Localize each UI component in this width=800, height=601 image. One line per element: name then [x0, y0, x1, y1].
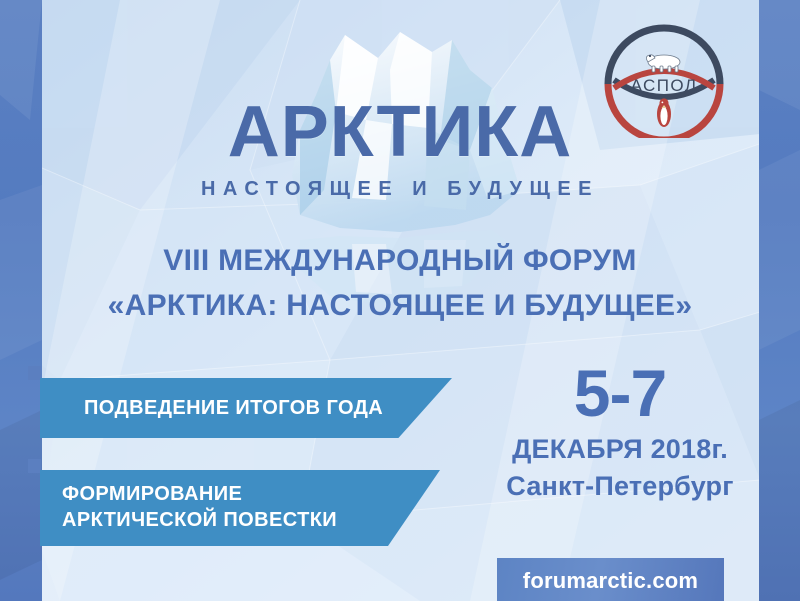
poster-canvas: АСПОЛ АРКТИКА НАСТОЯЩЕЕ И БУДУЩЕЕ VIII М…	[0, 0, 800, 601]
event-date-block: 5-7 ДЕКАБРЯ 2018г. Санкт-Петербург	[470, 360, 770, 502]
event-month-year: ДЕКАБРЯ 2018г.	[470, 434, 770, 465]
forum-heading-line-2: «АРКТИКА: НАСТОЯЩЕЕ И БУДУЩЕЕ»	[0, 288, 800, 323]
event-date-range: 5-7	[470, 360, 770, 426]
event-city: Санкт-Петербург	[470, 471, 770, 502]
ribbon-tab-one	[28, 366, 41, 380]
ribbon-two-line-2: АРКТИЧЕСКОЙ ПОВЕСТКИ	[62, 508, 337, 534]
penguin-icon	[657, 98, 671, 127]
ribbon-two-line-1: ФОРМИРОВАНИЕ	[62, 482, 337, 508]
forum-heading: VIII МЕЖДУНАРОДНЫЙ ФОРУМ «АРКТИКА: НАСТО…	[0, 243, 800, 324]
ribbon-tab-two	[28, 459, 41, 473]
forum-heading-line-1: VIII МЕЖДУНАРОДНЫЙ ФОРУМ	[0, 243, 800, 278]
ribbon-results-of-the-year: ПОДВЕДЕНИЕ ИТОГОВ ГОДА	[40, 378, 452, 438]
ribbon-arctic-agenda: ФОРМИРОВАНИЕ АРКТИЧЕСКОЙ ПОВЕСТКИ	[40, 470, 440, 546]
ribbon-one-line-1: ПОДВЕДЕНИЕ ИТОГОВ ГОДА	[84, 397, 383, 420]
ribbon-one-label: ПОДВЕДЕНИЕ ИТОГОВ ГОДА	[84, 397, 383, 420]
website-link-button[interactable]: forumarctic.com	[497, 558, 724, 601]
aspol-emblem-text: АСПОЛ	[631, 76, 698, 95]
ribbon-two-label: ФОРМИРОВАНИЕ АРКТИЧЕСКОЙ ПОВЕСТКИ	[62, 482, 337, 533]
aspol-emblem: АСПОЛ	[600, 22, 728, 138]
